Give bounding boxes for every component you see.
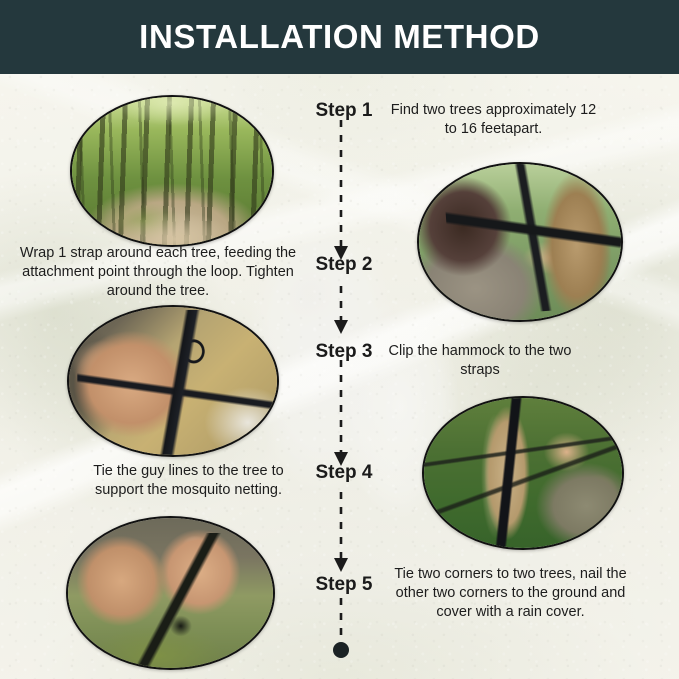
arrowhead-step-5 (334, 558, 348, 572)
step-text-4: Tie the guy lines to the tree to support… (70, 462, 307, 500)
step-label-4: Step 4 (304, 462, 384, 484)
step-text-1: Find two trees approximately 12 to 16 fe… (386, 101, 601, 139)
step-text-5: Tie two corners to two trees, nail the o… (383, 565, 638, 622)
step-label-2: Step 2 (304, 254, 384, 276)
step-label-3: Step 3 (304, 341, 384, 363)
step-text-2: Wrap 1 strap around each tree, feeding t… (13, 244, 303, 301)
step-label-1: Step 1 (304, 100, 384, 122)
installation-method-infographic: INSTALLATION METHOD (0, 0, 679, 679)
step-text-3: Clip the hammock to the two straps (385, 342, 575, 380)
arrowhead-step-3 (334, 320, 348, 334)
step-label-5: Step 5 (304, 574, 384, 596)
flow-end-dot (333, 642, 349, 658)
